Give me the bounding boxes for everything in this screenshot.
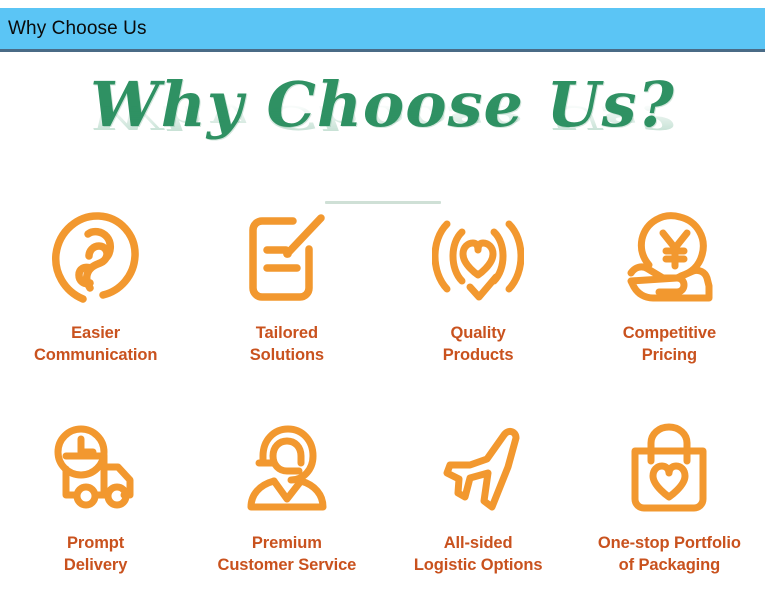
why-choose-us-banner: Why Choose Us? Why Choose Us? [0, 55, 765, 599]
delivery-truck-clock-icon [48, 420, 144, 520]
feature-item-quality-products[interactable]: Quality Products [383, 200, 574, 414]
feature-label: Easier Communication [30, 322, 161, 366]
feature-item-competitive-pricing[interactable]: Competitive Pricing [574, 200, 765, 414]
feature-label: Competitive Pricing [619, 322, 720, 366]
feature-label: One-stop Portfolio of Packaging [594, 532, 745, 576]
heart-check-signal-icon [430, 206, 526, 310]
hero-title-block: Why Choose Us? Why Choose Us? [0, 69, 765, 165]
feature-item-prompt-delivery[interactable]: Prompt Delivery [0, 414, 191, 599]
hero-title: Why Choose Us? [0, 69, 765, 141]
page-root: Why Choose Us Why Choose Us? Why Choose … [0, 0, 765, 599]
document-pencil-icon [239, 206, 335, 310]
feature-item-all-sided-logistic-options[interactable]: All-sided Logistic Options [383, 414, 574, 599]
feature-item-easier-communication[interactable]: Easier Communication [0, 200, 191, 414]
window-header-bar: Why Choose Us [0, 8, 765, 52]
window-title: Why Choose Us [0, 18, 147, 40]
shopping-bag-heart-icon [621, 420, 717, 520]
airplane-icon [430, 420, 526, 520]
hand-yen-coin-icon [621, 206, 717, 310]
feature-label: Quality Products [439, 322, 518, 366]
headset-agent-icon [239, 420, 335, 520]
feature-item-one-stop-portfolio-of-packaging[interactable]: One-stop Portfolio of Packaging [574, 414, 765, 599]
feature-grid: Easier Communication Tailored Soluti [0, 200, 765, 599]
feature-label: Premium Customer Service [214, 532, 361, 576]
feature-label: All-sided Logistic Options [410, 532, 547, 576]
feature-item-tailored-solutions[interactable]: Tailored Solutions [191, 200, 382, 414]
feature-item-premium-customer-service[interactable]: Premium Customer Service [191, 414, 382, 599]
feature-label: Prompt Delivery [60, 532, 131, 576]
feature-label: Tailored Solutions [246, 322, 328, 366]
ear-listening-icon [48, 206, 144, 310]
